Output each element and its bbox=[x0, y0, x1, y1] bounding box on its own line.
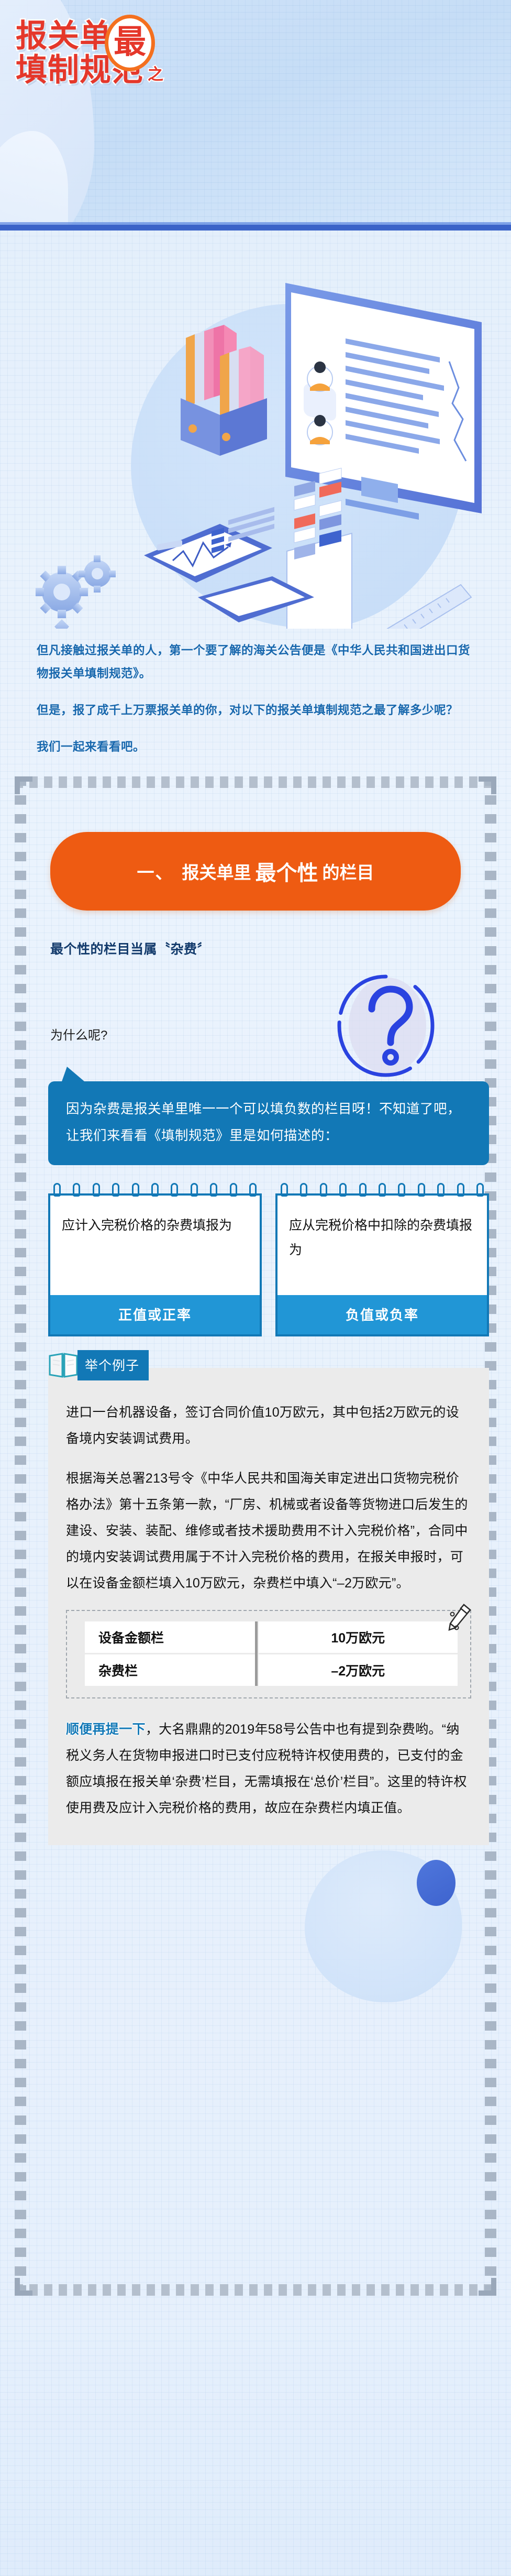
question-row: 为什么呢? bbox=[50, 989, 483, 1078]
notepad-body: 应从完税价格中扣除的杂费填报为 负值或负率 bbox=[275, 1193, 489, 1336]
notepad-footer: 正值或正率 bbox=[50, 1295, 260, 1334]
intro-paragraph-1: 但凡接触过报关单的人，第一个要了解的海关公告便是《中华人民共和国进出口货物报关单… bbox=[37, 639, 474, 685]
example-table-wrapper: 设备金额栏 10万欧元 杂费栏 –2万欧元 bbox=[66, 1610, 471, 1698]
notepad-footer: 负值或负率 bbox=[277, 1295, 487, 1334]
frame-corner-bottom-left bbox=[15, 2278, 32, 2296]
zui-badge-label: 最 bbox=[114, 26, 146, 59]
pencil-icon bbox=[445, 1603, 472, 1633]
example-paragraph-1: 进口一台机器设备，签订合同价值10万欧元，其中包括2万欧元的设备境内安装调试费用… bbox=[66, 1399, 471, 1452]
example-panel: 进口一台机器设备，签订合同价值10万欧元，其中包括2万欧元的设备境内安装调试费用… bbox=[48, 1368, 489, 1845]
infographic-page: 报关单 填制规范 之 最 bbox=[0, 0, 511, 2576]
example-tag-label: 举个例子 bbox=[77, 1350, 149, 1380]
header-banner: 报关单 填制规范 之 最 bbox=[0, 0, 511, 231]
table-cell-value: –2万欧元 bbox=[259, 1653, 458, 1686]
title-text-primary: 报关单 bbox=[16, 21, 112, 52]
example-note-paragraph: 顺便再提一下，大名鼎鼎的2019年58号公告中也有提到杂费哟。“纳税义务人在货物… bbox=[66, 1716, 471, 1821]
header-rule bbox=[0, 225, 511, 231]
ruler-icon bbox=[387, 585, 471, 629]
book-files-icon bbox=[178, 321, 283, 456]
example-tag: 举个例子 bbox=[48, 1350, 149, 1380]
table-cell-label: 设备金额栏 bbox=[85, 1621, 257, 1654]
section-title-prefix: 报关单里 bbox=[182, 859, 251, 884]
table-row: 设备金额栏 10万欧元 bbox=[85, 1621, 458, 1654]
section-subhead: 最个性的栏目当属〝杂费〞 bbox=[50, 939, 483, 958]
isometric-desk-illustration bbox=[0, 231, 511, 629]
zui-badge: 最 bbox=[105, 15, 155, 71]
intro-paragraph-2: 但是，报了成千上万票报关单的你，对以下的报关单填制规范之最了解多少呢？ bbox=[37, 699, 474, 722]
section-header-pill: 一、 报关单里 最个性 的栏目 bbox=[50, 832, 461, 911]
framed-content-section: 一、 报关单里 最个性 的栏目 最个性的栏目当属〝杂费〞 为什么呢? 因为杂费是… bbox=[15, 776, 496, 2296]
notepad-cards: 应计入完税价格的杂费填报为 正值或正率 应从完税价格中扣除的杂费填报为 负值或负… bbox=[48, 1183, 489, 1336]
example-table: 设备金额栏 10万欧元 杂费栏 –2万欧元 bbox=[85, 1621, 458, 1686]
example-paragraph-2: 根据海关总署213号令《中华人民共和国海关审定进出口货物完税价格办法》第十五条第… bbox=[66, 1465, 471, 1596]
frame-corner-top-right bbox=[479, 776, 496, 794]
table-cell-label: 杂费栏 bbox=[85, 1653, 257, 1686]
speech-bubble-tail bbox=[61, 1067, 88, 1084]
table-row: 杂费栏 –2万欧元 bbox=[85, 1653, 458, 1686]
section-title-emphasis: 最个性 bbox=[256, 856, 318, 886]
gears-icon bbox=[36, 555, 116, 629]
notepad-card: 应从完税价格中扣除的杂费填报为 负值或负率 bbox=[275, 1183, 489, 1336]
footer-decoration bbox=[28, 1845, 483, 1976]
frame-corner-bottom-right bbox=[479, 2278, 496, 2296]
frame-edge-bottom bbox=[15, 2284, 496, 2296]
notepad-body: 应计入完税价格的杂费填报为 正值或正率 bbox=[48, 1193, 262, 1336]
intro-paragraph-3: 我们一起来看看吧。 bbox=[37, 736, 474, 759]
spiral-binding-icon bbox=[277, 1183, 487, 1197]
question-mark-icon bbox=[331, 969, 441, 1082]
notepad-card: 应计入完税价格的杂费填报为 正值或正率 bbox=[48, 1183, 262, 1336]
frame-corner-top-left bbox=[15, 776, 32, 794]
notepad-text: 应计入完税价格的杂费填报为 bbox=[50, 1196, 260, 1295]
example-note-highlight: 顺便再提一下 bbox=[66, 1722, 146, 1737]
table-cell-value: 10万欧元 bbox=[259, 1621, 458, 1654]
open-book-icon bbox=[48, 1352, 79, 1379]
frame-edge-left bbox=[15, 776, 26, 2296]
notepad-text: 应从完税价格中扣除的杂费填报为 bbox=[277, 1196, 487, 1295]
section-number: 一、 bbox=[137, 859, 174, 884]
frame-edge-top bbox=[15, 776, 496, 788]
intro-section: 但凡接触过报关单的人，第一个要了解的海关公告便是《中华人民共和国进出口货物报关单… bbox=[0, 629, 511, 759]
title-connector: 之 bbox=[148, 67, 163, 82]
speech-bubble-wrapper: 因为杂费是报关单里唯一一个可以填负数的栏目呀！不知道了吧，让我们来看看《填制规范… bbox=[48, 1081, 483, 1165]
footer-accent-dot bbox=[417, 1860, 456, 1906]
speech-bubble-text: 因为杂费是报关单里唯一一个可以填负数的栏目呀！不知道了吧，让我们来看看《填制规范… bbox=[48, 1081, 489, 1165]
spiral-binding-icon bbox=[50, 1183, 260, 1197]
tablet-table-icon bbox=[285, 468, 361, 629]
hero-illustration bbox=[0, 231, 511, 629]
section-title-suffix: 的栏目 bbox=[323, 859, 374, 884]
